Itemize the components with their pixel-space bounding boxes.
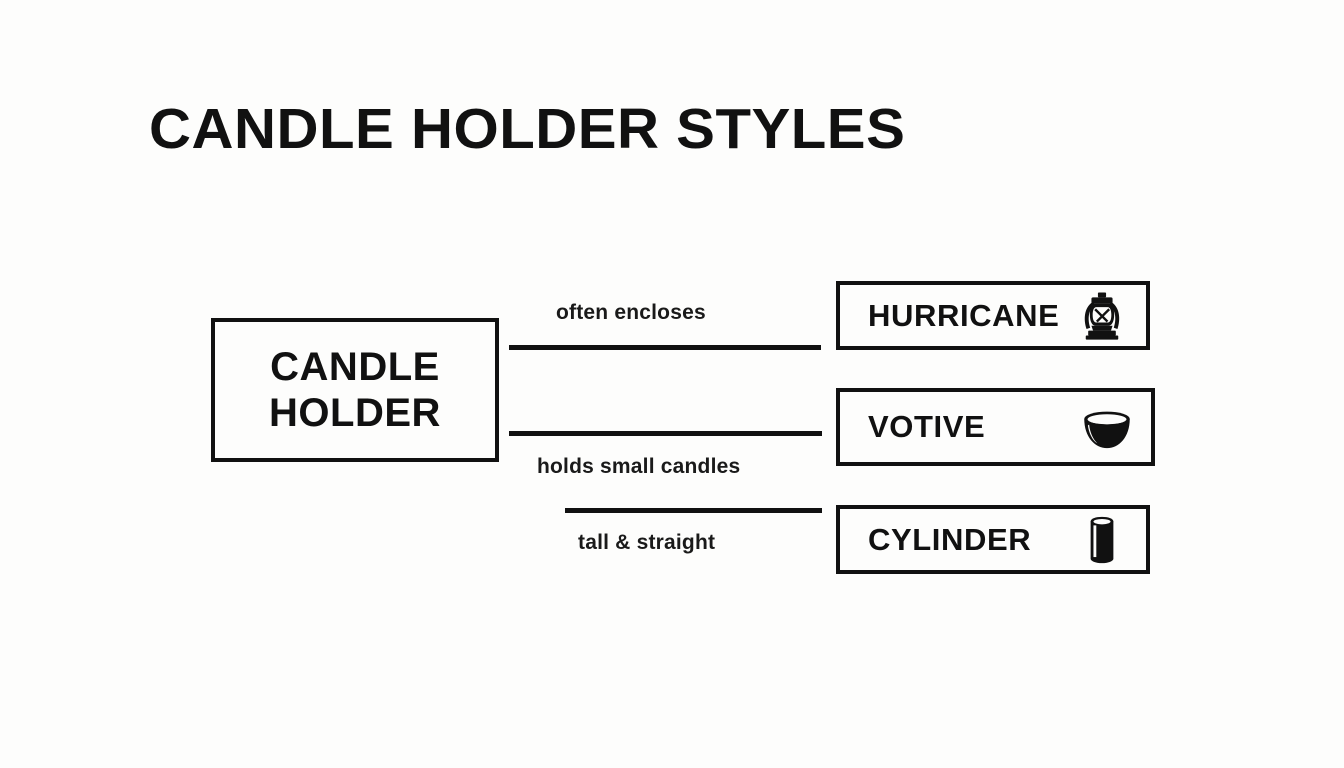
branch-label-cylinder: CYLINDER bbox=[868, 522, 1031, 558]
edge-label-tall-and-straight: tall & straight bbox=[578, 531, 715, 555]
hurricane-lantern-icon bbox=[1076, 290, 1128, 342]
diagram-canvas: CANDLE HOLDER STYLES CANDLE HOLDER often… bbox=[0, 0, 1344, 768]
branch-node-hurricane[interactable]: HURRICANE bbox=[836, 281, 1150, 350]
connector-line-cylinder bbox=[565, 508, 822, 513]
connector-line-votive bbox=[509, 431, 822, 436]
edge-label-often-encloses: often encloses bbox=[556, 301, 706, 325]
votive-bowl-icon bbox=[1081, 401, 1133, 453]
branch-label-votive: VOTIVE bbox=[868, 409, 985, 445]
edge-label-holds-small-candles: holds small candles bbox=[537, 455, 740, 479]
branch-node-cylinder[interactable]: CYLINDER bbox=[836, 505, 1150, 574]
cylinder-candle-icon bbox=[1076, 514, 1128, 566]
branch-node-votive[interactable]: VOTIVE bbox=[836, 388, 1155, 466]
connector-line-hurricane bbox=[509, 345, 821, 350]
branch-label-hurricane: HURRICANE bbox=[868, 298, 1059, 334]
root-node-label: CANDLE HOLDER bbox=[269, 344, 441, 437]
page-title: CANDLE HOLDER STYLES bbox=[149, 96, 905, 162]
root-node-candle-holder[interactable]: CANDLE HOLDER bbox=[211, 318, 499, 462]
